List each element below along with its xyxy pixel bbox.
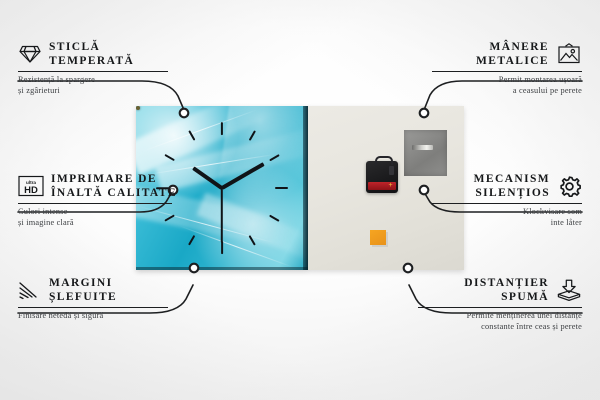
feature-divider: [18, 71, 168, 72]
product-image: +: [136, 106, 464, 270]
feature-header: MARGINI ȘLEFUITE: [18, 276, 168, 304]
feature-divider: [18, 203, 172, 204]
feature-title: MÂNERE METALICE: [476, 40, 549, 68]
feature-title: DISTANȚIER SPUMĂ: [464, 276, 549, 304]
feature-subtitle-line2: și zgârieturi: [18, 86, 168, 97]
foam-spacer-pad: [370, 230, 386, 245]
feature-divider: [432, 203, 582, 204]
battery: +: [368, 182, 396, 190]
clock-second-hand: [221, 188, 223, 243]
feature-metal-hangers: MÂNERE METALICE Permit montarea ușoară a…: [432, 40, 582, 96]
metal-hanger-plate: [404, 130, 447, 176]
feature-divider: [18, 307, 168, 308]
down-arrow-pad-icon: [556, 279, 582, 302]
ultra-hd-icon: ultra HD: [18, 175, 44, 197]
feature-title: MECANISM SILENȚIOS: [474, 172, 550, 200]
feature-header: MÂNERE METALICE: [432, 40, 582, 68]
quartz-mechanism: +: [366, 161, 398, 193]
glass-edge-bottom: [136, 267, 308, 270]
feature-title-line1: MÂNERE: [489, 40, 549, 54]
feature-header: STICLĂ TEMPERATĂ: [18, 40, 168, 68]
feature-title-line2: SPUMĂ: [501, 290, 549, 304]
feature-header: DISTANȚIER SPUMĂ: [418, 276, 582, 304]
feature-subtitle-line1: Rezistență la spargere: [18, 75, 168, 86]
feature-subtitle-line1: Klockvisare som: [432, 207, 582, 218]
feature-tempered-glass: STICLĂ TEMPERATĂ Rezistență la spargere …: [18, 40, 168, 96]
feature-subtitle-line1: Finisare netedă și sigură: [18, 311, 168, 322]
feature-header: MECANISM SILENȚIOS: [432, 172, 582, 200]
feature-title-line2: TEMPERATĂ: [49, 54, 134, 68]
feature-title-line1: IMPRIMARE DE: [51, 172, 157, 186]
feature-divider: [418, 307, 582, 308]
feature-subtitle-line1: Permit montarea ușoară: [432, 75, 582, 86]
feature-subtitle-line1: Permite menținerea unei distanțe: [418, 311, 582, 322]
feature-title-line1: MARGINI: [49, 276, 112, 290]
feature-title-line2: ȘLEFUITE: [49, 290, 117, 304]
diamond-icon: [18, 44, 42, 64]
feature-polished-edges: MARGINI ȘLEFUITE Finisare netedă și sigu…: [18, 276, 168, 322]
feature-title-line1: MECANISM: [474, 172, 550, 186]
picture-frame-hanger-icon: [556, 43, 582, 65]
feature-title: STICLĂ TEMPERATĂ: [49, 40, 134, 68]
hanger-keyhole-slot: [412, 145, 433, 150]
feature-title-line1: STICLĂ: [49, 40, 100, 54]
gear-icon: [557, 175, 582, 198]
feature-divider: [432, 71, 582, 72]
feature-title-line1: DISTANȚIER: [464, 276, 549, 290]
feature-high-quality-print: ultra HD IMPRIMARE DE ÎNALTĂ CALITATE Cu…: [18, 172, 172, 228]
feature-title: IMPRIMARE DE ÎNALTĂ CALITATE: [51, 172, 177, 200]
feature-title-line2: SILENȚIOS: [475, 186, 550, 200]
clock-tick: [221, 122, 223, 135]
feature-title-line2: METALICE: [476, 54, 549, 68]
feature-silent-mechanism: MECANISM SILENȚIOS Klockvisare som inte …: [432, 172, 582, 228]
feature-subtitle-line2: a ceasului pe perete: [432, 86, 582, 97]
feature-subtitle-line2: și imagine clară: [18, 218, 172, 229]
feature-title-line2: ÎNALTĂ CALITATE: [51, 186, 177, 200]
feature-foam-spacer: DISTANȚIER SPUMĂ Permite menținerea unei…: [418, 276, 582, 332]
clock-hub: [136, 106, 140, 110]
battery-plus-terminal: +: [388, 183, 393, 188]
clock-tick: [221, 241, 223, 254]
mechanism-knob: [389, 166, 394, 175]
feature-subtitle-line2: constante între ceas și perete: [418, 322, 582, 333]
feature-subtitle-line1: Culori intense: [18, 207, 172, 218]
feature-header: ultra HD IMPRIMARE DE ÎNALTĂ CALITATE: [18, 172, 172, 200]
feature-title: MARGINI ȘLEFUITE: [49, 276, 117, 304]
clock-tick: [188, 235, 195, 245]
clock-tick: [275, 187, 288, 189]
infographic-canvas: +: [0, 0, 600, 400]
diagonal-lines-icon: [18, 280, 42, 300]
mechanism-hanger-loop: [375, 156, 393, 165]
feature-subtitle-line2: inte låter: [432, 218, 582, 229]
svg-text:HD: HD: [24, 185, 38, 196]
